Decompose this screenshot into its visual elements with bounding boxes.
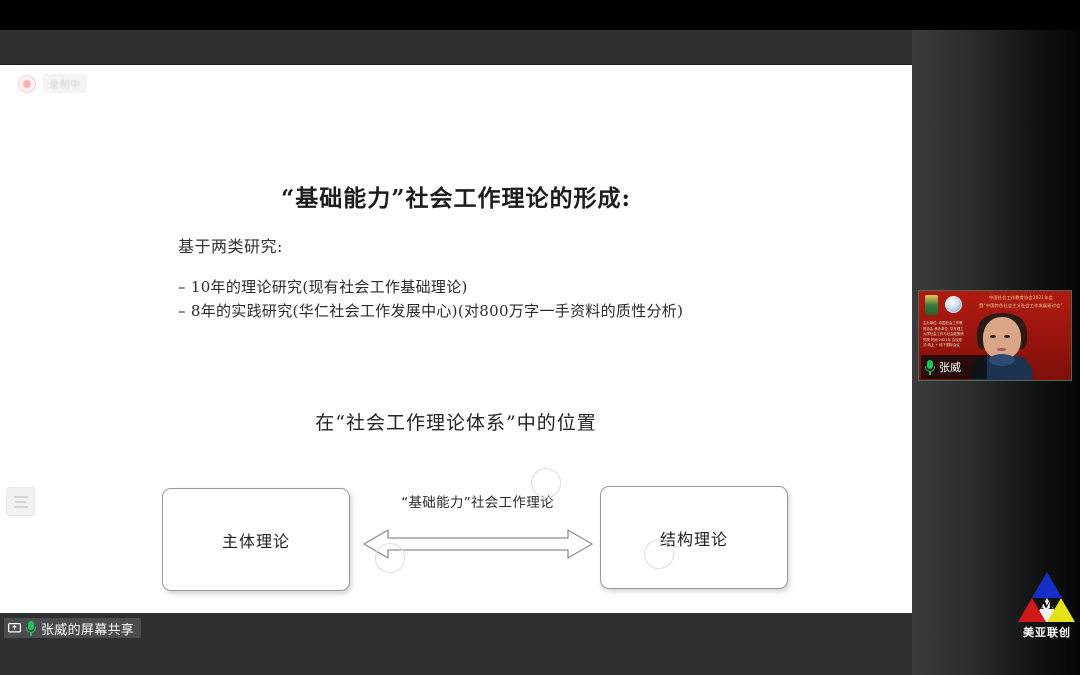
diagram-box-left: 主体理论	[162, 488, 350, 591]
banner-subtitle: 暨“中国特色社会主义社会工作发展研讨会”	[971, 303, 1071, 309]
slide-title: “基础能力”社会工作理论的形成:	[0, 179, 912, 213]
diagram-box-left-label: 主体理论	[222, 528, 290, 552]
shared-screen-toolbar[interactable]	[0, 30, 912, 65]
list-item: – 8年的实践研究(华仁社会工作发展中心)(对800万字一手资料的质性分析)	[178, 299, 683, 323]
annotation-circle	[531, 468, 561, 498]
recording-indicator[interactable]: 录制中	[18, 74, 87, 93]
screen-share-indicator: 张威的屏幕共享	[4, 618, 141, 638]
screen-share-label: 张威的屏幕共享	[41, 619, 134, 638]
participant-name: 张威	[939, 359, 961, 375]
list-menu-icon[interactable]	[6, 487, 35, 516]
slide-lead-text: 基于两类研究:	[178, 233, 283, 257]
emblem-icon	[925, 295, 938, 315]
logo-letter: M	[1018, 598, 1076, 613]
association-logo-icon	[945, 296, 962, 313]
theory-position-diagram: 主体理论 结构理论 “基础能力”社会工作理论	[0, 465, 912, 610]
slide-subheading: 在“社会工作理论体系”中的位置	[0, 408, 912, 435]
annotation-circle	[644, 539, 674, 569]
annotation-circle	[375, 543, 405, 573]
record-dot-icon	[18, 75, 36, 93]
microphone-icon	[924, 360, 936, 375]
shared-screen-region: “基础能力”社会工作理论的形成: 基于两类研究: – 10年的理论研究(现有社会…	[0, 65, 912, 613]
logo-text: 美亚联创	[1014, 624, 1080, 640]
slide-bullet-list: – 10年的理论研究(现有社会工作基础理论) – 8年的实践研究(华仁社会工作发…	[178, 275, 683, 323]
recording-label: 录制中	[43, 74, 87, 93]
watermark-logo: M 美亚联创	[1018, 570, 1076, 630]
participant-video-tile[interactable]: 中国社会工作教育协会2021年会 暨“中国特色社会主义社会工作发展研讨会” 主办…	[918, 290, 1072, 381]
list-item: – 10年的理论研究(现有社会工作基础理论)	[178, 275, 683, 299]
presentation-slide: “基础能力”社会工作理论的形成: 基于两类研究: – 10年的理论研究(现有社会…	[0, 65, 912, 613]
screen-share-icon	[8, 623, 21, 634]
zoom-meeting-window: “基础能力”社会工作理论的形成: 基于两类研究: – 10年的理论研究(现有社会…	[0, 0, 1080, 675]
diagram-box-right: 结构理论	[600, 486, 788, 589]
banner-title: 中国社会工作教育协会2021年会	[971, 295, 1071, 301]
participant-name-tag: 张威	[921, 355, 987, 379]
top-black-bar	[0, 0, 1080, 30]
banner-side-text: 主办单位: 中国社会工作教育协会 承办单位: 华东理工大学社会工作与社会政策研究…	[923, 321, 965, 349]
microphone-icon	[25, 621, 37, 636]
